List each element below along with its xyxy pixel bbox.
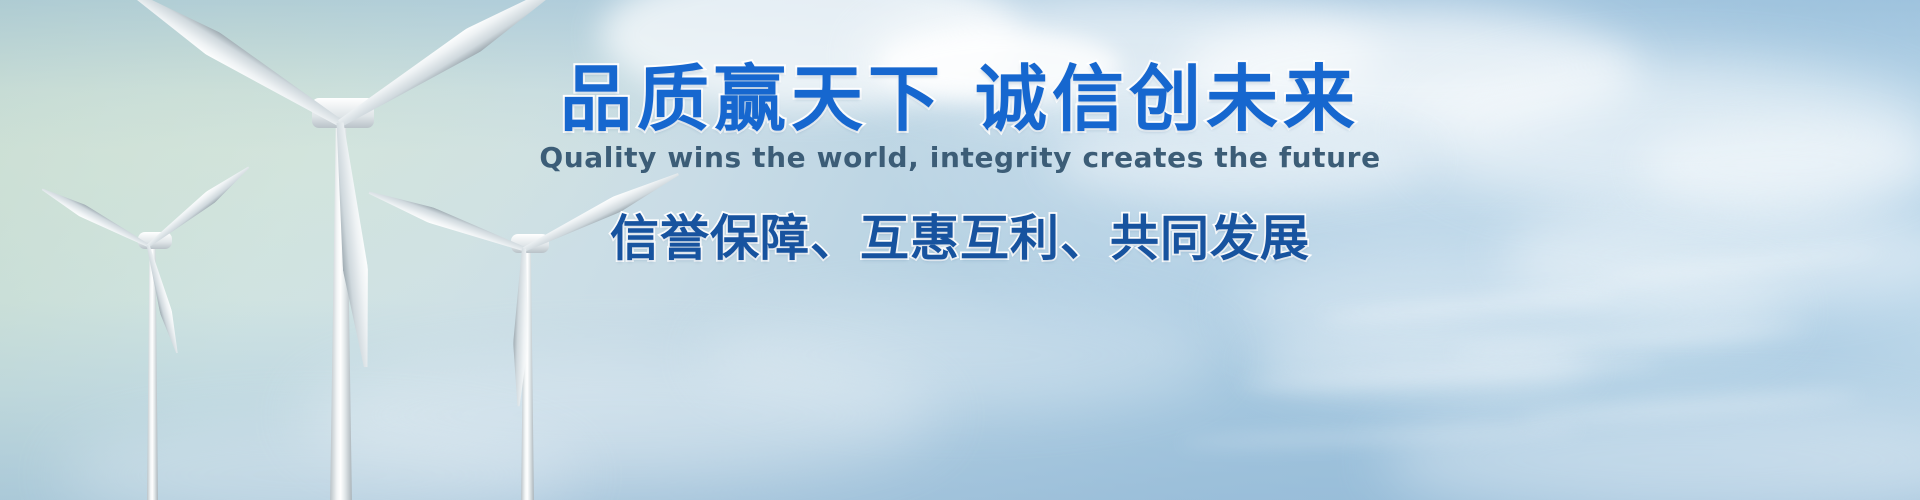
banner-subtitle-english: Quality wins the world, integrity create… (0, 141, 1920, 174)
banner-headline: 品质赢天下 诚信创未来 (0, 63, 1920, 135)
banner-tagline: 信誉保障、互惠互利、共同发展 (0, 199, 1920, 270)
promo-banner: 品质赢天下 诚信创未来 Quality wins the world, inte… (0, 0, 1920, 500)
